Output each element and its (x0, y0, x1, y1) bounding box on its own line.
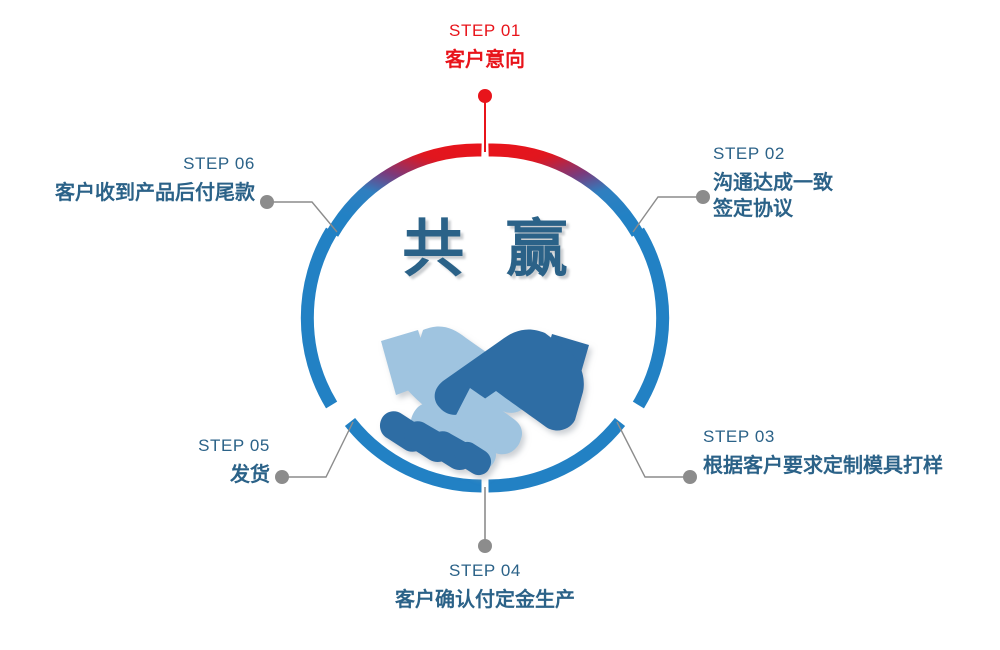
infographic-canvas: 共 赢 STEP 01 客户意向 STEP 02 沟通达成一致 签定协议 STE… (0, 0, 1000, 650)
connector-step06 (260, 195, 337, 232)
ring-segment-05 (307, 231, 331, 405)
step-number-06: STEP 06 (20, 155, 255, 174)
connector-step05 (275, 422, 353, 484)
step-title-05: 发货 (186, 462, 270, 488)
step-title-01: 客户意向 (385, 47, 585, 73)
step-number-03: STEP 03 (703, 428, 993, 447)
node-dot-step02 (696, 190, 710, 204)
step-label-01[interactable]: STEP 01 客户意向 (385, 22, 585, 73)
step-number-02: STEP 02 (713, 145, 973, 164)
node-dot-step01 (478, 89, 492, 103)
step-title-03: 根据客户要求定制模具打样 (703, 453, 993, 479)
step-label-05[interactable]: STEP 05 发货 (120, 437, 270, 488)
step-title-06: 客户收到产品后付尾款 (20, 180, 255, 206)
step-title-02: 沟通达成一致 (713, 170, 973, 196)
connector-step04 (478, 487, 492, 553)
connector-step03 (617, 422, 697, 484)
step-title-04: 客户确认付定金生产 (383, 587, 587, 613)
step-number-01: STEP 01 (385, 22, 585, 41)
node-dot-step04 (478, 539, 492, 553)
center-word: 共 赢 (390, 218, 580, 280)
node-dot-step05 (275, 470, 289, 484)
node-dot-step06 (260, 195, 274, 209)
step-label-03[interactable]: STEP 03 根据客户要求定制模具打样 (703, 428, 993, 479)
ring-segment-02 (638, 231, 662, 405)
connector-step01 (478, 89, 492, 152)
connector-step02 (633, 190, 710, 232)
handshake-icon (380, 327, 589, 476)
step-label-04[interactable]: STEP 04 客户确认付定金生产 (383, 562, 587, 613)
step-title-02-line2: 签定协议 (713, 196, 973, 222)
step-label-06[interactable]: STEP 06 客户收到产品后付尾款 (20, 155, 255, 206)
node-dot-step03 (683, 470, 697, 484)
step-number-05: STEP 05 (186, 437, 270, 456)
process-circle-diagram (0, 0, 1000, 650)
step-number-04: STEP 04 (383, 562, 587, 581)
step-label-02[interactable]: STEP 02 沟通达成一致 签定协议 (713, 145, 973, 222)
